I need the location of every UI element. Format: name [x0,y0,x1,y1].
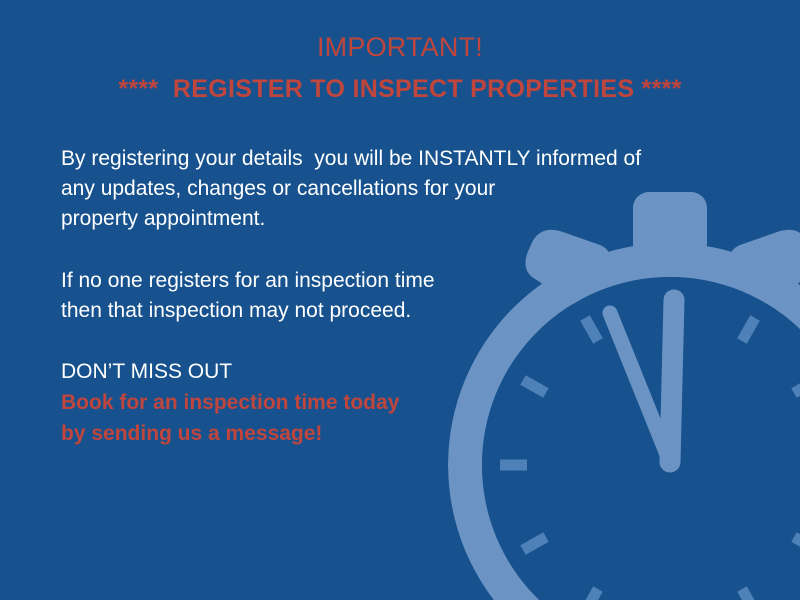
cta-send-message: by sending us a message! [61,418,721,449]
paragraph-line: By registering your details you will be … [61,144,721,174]
paragraph-spacer [61,234,721,266]
slide-canvas: IMPORTANT! **** REGISTER TO INSPECT PROP… [0,0,800,600]
paragraph-line: property appointment. [61,204,721,234]
cta-spacer [61,326,721,356]
body-copy: By registering your details you will be … [61,144,721,449]
paragraph-line: then that inspection may not proceed. [61,296,721,326]
call-to-action: DON’T MISS OUT Book for an inspection ti… [61,356,721,449]
cta-dont-miss-out: DON’T MISS OUT [61,356,721,387]
paragraph-line: If no one registers for an inspection ti… [61,266,721,296]
heading-important: IMPORTANT! [0,30,800,64]
heading-register: **** REGISTER TO INSPECT PROPERTIES **** [0,72,800,106]
cta-book-today: Book for an inspection time today [61,387,721,418]
paragraph-registering: By registering your details you will be … [61,144,721,234]
paragraph-no-registrations: If no one registers for an inspection ti… [61,266,721,326]
paragraph-line: any updates, changes or cancellations fo… [61,174,721,204]
heading-block: IMPORTANT! **** REGISTER TO INSPECT PROP… [0,30,800,106]
